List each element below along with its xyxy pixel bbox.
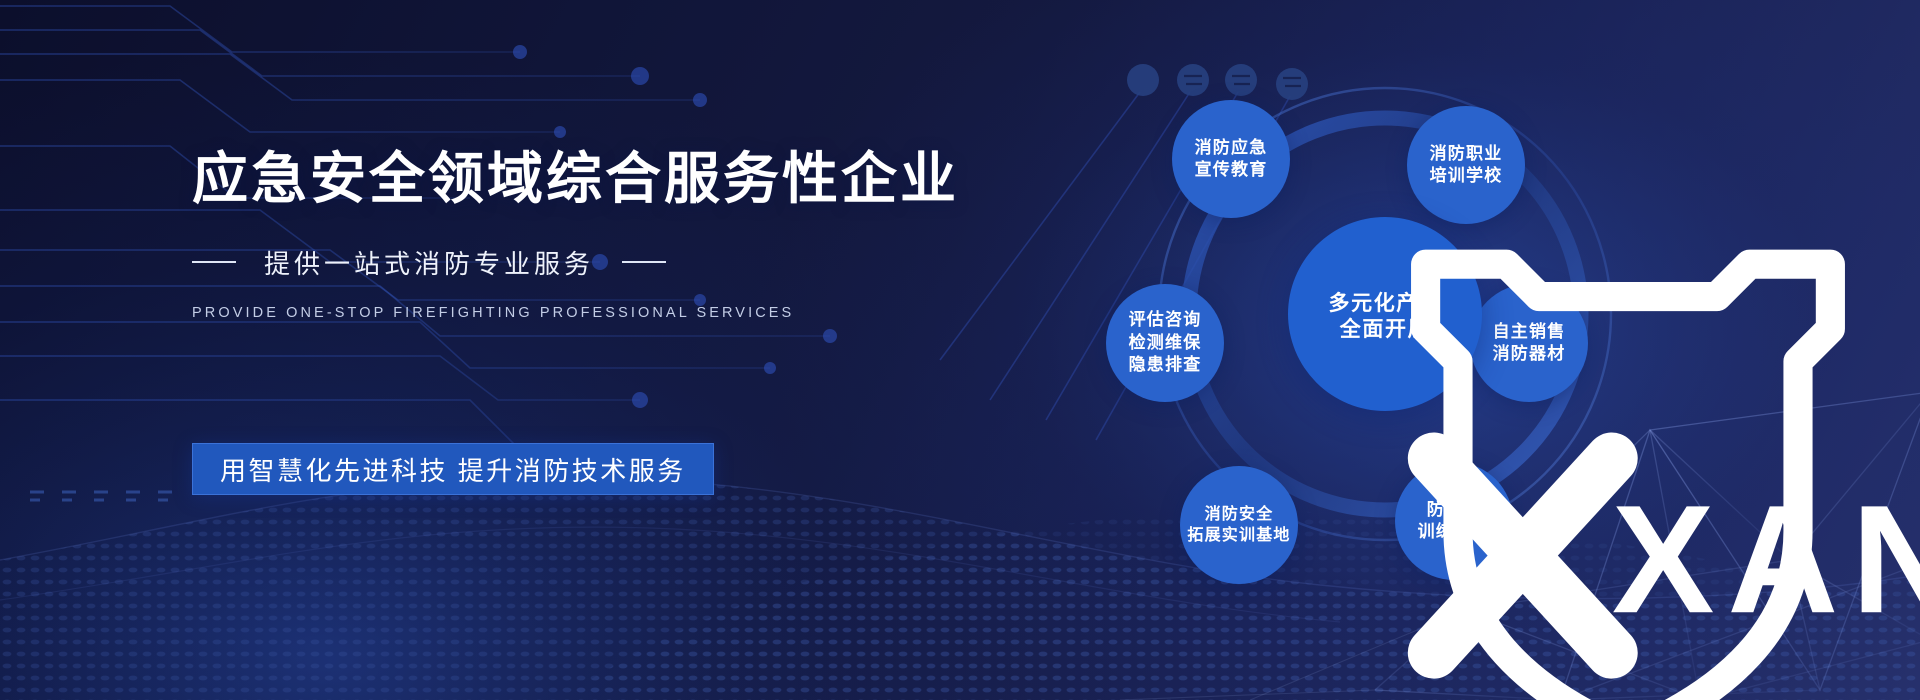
bubble-assessment-inspection[interactable]: 评估咨询 检测维保 隐患排查 [1106, 284, 1224, 402]
rule-right-icon [622, 261, 666, 263]
rule-left-icon [192, 261, 236, 263]
bubble-line: 评估咨询 [1129, 309, 1202, 331]
bubble-line: 拓展实训基地 [1187, 525, 1290, 546]
bubble-safety-training-base[interactable]: 消防安全 拓展实训基地 [1180, 466, 1298, 584]
hero-subtitle: 提供一站式消防专业服务 [192, 244, 972, 281]
cta-banner[interactable]: 用智慧化先进科技 提升消防技术服务 [192, 443, 714, 495]
hero-eyebrow-english: PROVIDE ONE-STOP FIREFIGHTING PROFESSION… [192, 305, 972, 321]
bubble-line: 消防安全 [1205, 504, 1274, 525]
bubble-line: 消防应急 [1195, 137, 1268, 159]
bubble-line: 培训学校 [1430, 165, 1503, 187]
bubble-fire-emergency-education[interactable]: 消防应急 宣传教育 [1172, 100, 1290, 218]
bubble-center-core[interactable]: XAN 多元化产业 全面开展 [1288, 217, 1482, 411]
services-diagram: 消防应急 宣传教育 消防职业 培训学校 评估咨询 检测维保 隐患排查 自主销售 … [1120, 62, 1800, 642]
cta-label: 用智慧化先进科技 提升消防技术服务 [220, 451, 686, 488]
hero-subtitle-text: 提供一站式消防专业服务 [264, 244, 594, 281]
hero-copy: 应急安全领域综合服务性企业 提供一站式消防专业服务 PROVIDE ONE-ST… [192, 148, 972, 321]
bubble-fire-vocational-school[interactable]: 消防职业 培训学校 [1407, 106, 1525, 224]
bubble-line: 检测维保 [1129, 332, 1202, 354]
bubble-line: 隐患排查 [1129, 354, 1202, 376]
bubble-line: 宣传教育 [1195, 159, 1268, 181]
bubble-line: 消防职业 [1430, 143, 1503, 165]
logo-wordmark: XAN [1612, 473, 1920, 645]
page-title: 应急安全领域综合服务性企业 [192, 148, 972, 211]
hero-banner: 应急安全领域综合服务性企业 提供一站式消防专业服务 PROVIDE ONE-ST… [0, 0, 1920, 700]
